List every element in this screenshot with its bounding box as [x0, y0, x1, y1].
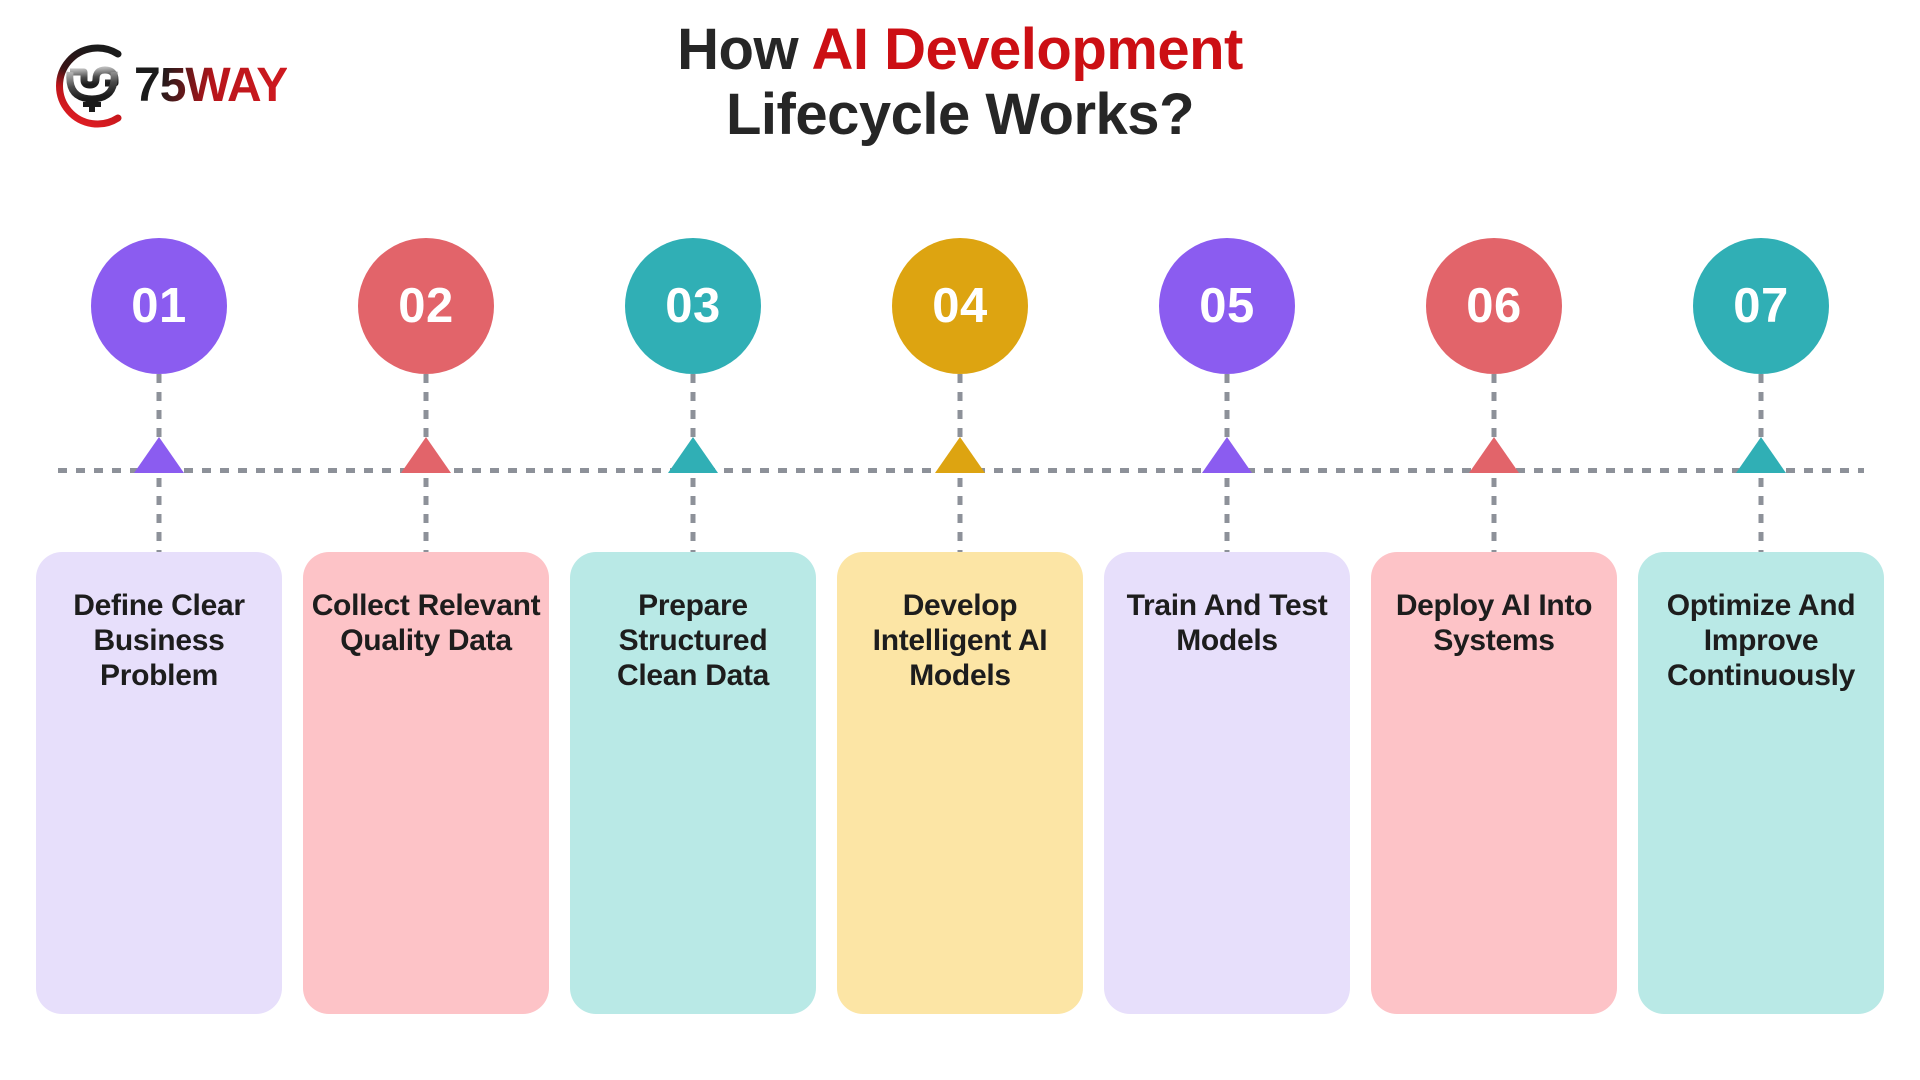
connector-dotted-lower	[1225, 478, 1230, 554]
page-title: How AI Development Lifecycle Works?	[0, 18, 1920, 148]
triangle-marker-icon	[134, 437, 184, 473]
step-card[interactable]: Train And Test Models	[1104, 552, 1350, 1014]
step-number-badge[interactable]: 05	[1159, 238, 1295, 374]
connector-dotted-lower	[691, 478, 696, 554]
step-card[interactable]: Optimize And Improve Continuously	[1638, 552, 1884, 1014]
step-card[interactable]: Define Clear Business Problem	[36, 552, 282, 1014]
triangle-marker-icon	[1736, 437, 1786, 473]
triangle-marker-icon	[401, 437, 451, 473]
step-card[interactable]: Collect Relevant Quality Data	[303, 552, 549, 1014]
connector-dotted-lower	[424, 478, 429, 554]
connector-dotted-lower	[1759, 478, 1764, 554]
page-title-line-1: How AI Development	[0, 18, 1920, 83]
infographic-canvas: 75WAY How AI Development Lifecycle Works…	[0, 0, 1920, 1080]
step-card[interactable]: Develop Intelligent AI Models	[837, 552, 1083, 1014]
step-number-badge[interactable]: 03	[625, 238, 761, 374]
page-title-line-2: Lifecycle Works?	[0, 83, 1920, 148]
connector-dotted-lower	[958, 478, 963, 554]
triangle-marker-icon	[1469, 437, 1519, 473]
step-number-badge[interactable]: 06	[1426, 238, 1562, 374]
step-card[interactable]: Prepare Structured Clean Data	[570, 552, 816, 1014]
triangle-marker-icon	[935, 437, 985, 473]
step-card[interactable]: Deploy AI Into Systems	[1371, 552, 1617, 1014]
triangle-marker-icon	[668, 437, 718, 473]
connector-dotted-lower	[1492, 478, 1497, 554]
triangle-marker-icon	[1202, 437, 1252, 473]
step-number-badge[interactable]: 01	[91, 238, 227, 374]
step-number-badge[interactable]: 04	[892, 238, 1028, 374]
step-number-badge[interactable]: 02	[358, 238, 494, 374]
page-title-line-1-accent: AI Development	[812, 17, 1243, 82]
connector-dotted-lower	[157, 478, 162, 554]
step-number-badge[interactable]: 07	[1693, 238, 1829, 374]
page-title-line-1-plain: How	[677, 17, 811, 82]
